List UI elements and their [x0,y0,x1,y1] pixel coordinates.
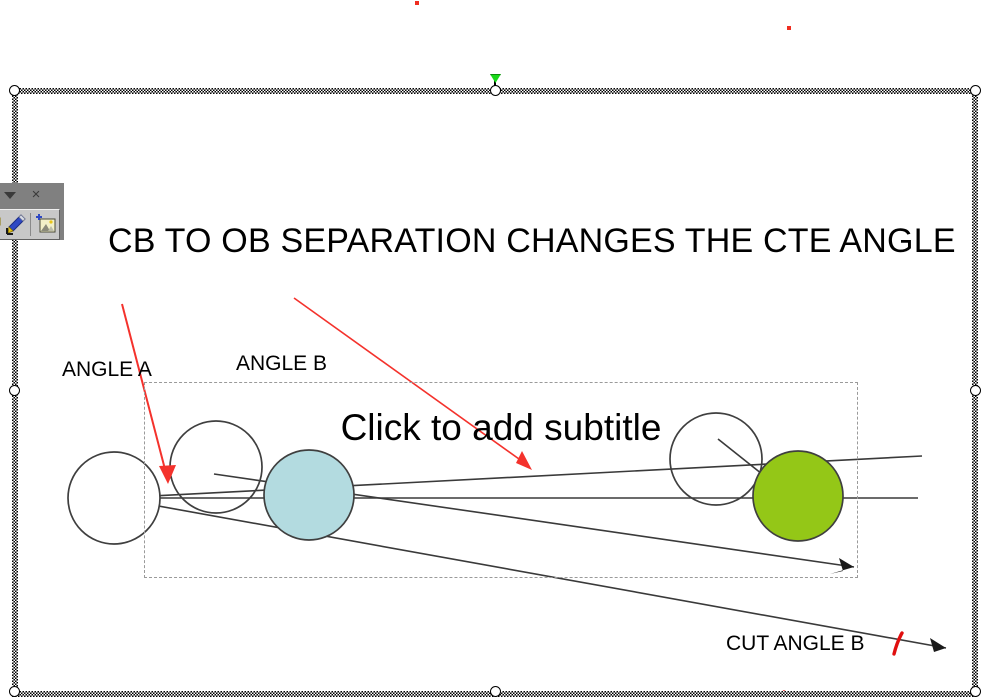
insert-picture-icon [34,212,58,237]
selection-handle-top-center[interactable] [490,85,501,96]
slide-title[interactable]: CB TO OB SEPARATION CHANGES THE CTE ANGL… [108,222,938,261]
slide-selection-frame[interactable]: Click to add subtitle CB TO OB SEPARATIO… [12,88,978,697]
reg-dot-right [787,26,791,30]
reg-dot-left [415,1,419,5]
chevron-down-icon[interactable] [4,192,16,199]
selection-handle-bottom-center[interactable] [490,686,501,697]
selection-handle-top-left[interactable] [9,85,20,96]
label-cut-angle-b: CUT ANGLE B [726,632,865,656]
rotate-handle-icon[interactable] [490,74,501,83]
close-icon[interactable]: × [29,187,43,203]
pencil-tool-button[interactable] [4,212,28,237]
screenshot-root: Click to add subtitle CB TO OB SEPARATIO… [0,0,993,697]
pencil-icon [4,212,28,237]
label-angle-b: ANGLE B [236,352,327,376]
selection-handle-middle-left[interactable] [9,385,20,396]
insert-picture-button[interactable] [34,212,58,237]
subtitle-placeholder-box[interactable]: Click to add subtitle [144,382,858,578]
selection-handle-top-right[interactable] [970,85,981,96]
toolbar-button-row [0,209,60,240]
cut-angle-b-tick-icon [894,633,902,654]
toolbar-separator [30,213,31,236]
toolbar-titlebar[interactable]: × [0,183,64,209]
format-painter-icon [0,212,3,237]
selection-handle-middle-right[interactable] [970,385,981,396]
floating-drawing-toolbar[interactable]: × [0,183,64,240]
selection-handle-bottom-right[interactable] [970,686,981,697]
cut-angle-a-arrowhead [922,638,946,656]
subtitle-placeholder-text[interactable]: Click to add subtitle [145,407,857,449]
label-angle-a: ANGLE A [62,358,152,382]
format-painter-button[interactable] [0,212,3,237]
selection-handle-bottom-left[interactable] [9,686,20,697]
slide-canvas[interactable]: Click to add subtitle CB TO OB SEPARATIO… [18,94,972,691]
